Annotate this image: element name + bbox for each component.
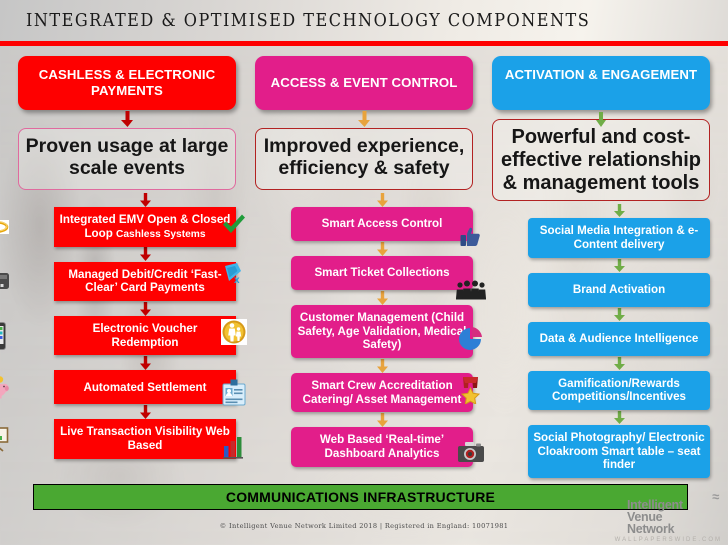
company-logo: ≈ Intelligent Venue Network <box>627 500 723 536</box>
column-subtitle-cashless: Proven usage at large scale events <box>18 128 236 190</box>
item-box[interactable]: Automated Settlement <box>54 370 236 404</box>
connector-arrow <box>255 241 473 256</box>
item-row[interactable]: Gamification/Rewards Competitions/Incent… <box>492 371 710 410</box>
item-row[interactable]: Electronic Voucher Redemption <box>18 316 236 355</box>
connector-arrow <box>492 410 710 425</box>
item-row[interactable]: Customer Management (Child Safety, Age V… <box>255 305 473 358</box>
connector-arrow <box>255 358 473 373</box>
card-reader-icon <box>0 266 12 296</box>
item-box[interactable]: Live Transaction Visibility Web Based <box>54 419 236 458</box>
item-row[interactable]: Integrated EMV Open & Closed Loop Cashle… <box>18 207 236 247</box>
item-row[interactable]: Web Based ‘Real-time’ Dashboard Analytic… <box>255 427 473 466</box>
green-check-icon <box>219 209 249 239</box>
connector-arrow <box>492 307 710 322</box>
page-title: INTEGRATED & OPTIMISED TECHNOLOGY COMPON… <box>26 11 590 31</box>
presentation-chart-icon <box>0 424 12 454</box>
people-group-icon <box>456 275 486 305</box>
connector-arrow <box>18 301 236 316</box>
connector-arrow <box>18 247 236 262</box>
item-box[interactable]: Electronic Voucher Redemption <box>54 316 236 355</box>
item-box[interactable]: Smart Crew Accreditation Catering/ Asset… <box>291 373 473 412</box>
item-row[interactable]: Smart Access Control <box>255 207 473 241</box>
connector-arrow <box>255 412 473 427</box>
slide-canvas: INTEGRATED & OPTIMISED TECHNOLOGY COMPON… <box>0 0 728 545</box>
item-box[interactable]: Web Based ‘Real-time’ Dashboard Analytic… <box>291 427 473 466</box>
connector-arrow <box>18 192 236 207</box>
copyright-notice: © Intelligent Venue Network Limited 2018… <box>0 522 728 530</box>
image-watermark: WALLPAPERSWIDE.COM <box>615 537 722 543</box>
connector-arrow <box>492 356 710 371</box>
logo-line-3: Network <box>627 524 723 536</box>
connector-arrow <box>18 355 236 370</box>
family-safety-icon <box>219 317 249 347</box>
column-subtitle-activation: Powerful and cost-effective relationship… <box>492 119 710 201</box>
gold-ring-icon <box>0 212 12 242</box>
item-row[interactable]: Brand Activation <box>492 273 710 307</box>
item-box[interactable]: Data & Audience Intelligence <box>528 322 710 356</box>
item-row[interactable]: Smart Crew Accreditation Catering/ Asset… <box>255 373 473 412</box>
item-box[interactable]: Smart Ticket Collections <box>291 256 473 290</box>
item-row[interactable]: x Smart Ticket Collections <box>255 256 473 290</box>
item-row[interactable]: Social Media Integration & e-Content del… <box>492 218 710 257</box>
column-access: ACCESS & EVENT CONTROL Improved experien… <box>255 56 473 467</box>
piggy-bank-icon <box>0 372 12 402</box>
item-box[interactable]: Smart Access Control <box>291 207 473 241</box>
id-badge-icon <box>219 378 249 408</box>
item-box[interactable]: Social Photography/ Electronic Cloakroom… <box>528 425 710 478</box>
connector-arrow <box>492 258 710 273</box>
column-activation: ACTIVATION & ENGAGEMENT Powerful and cos… <box>492 56 710 478</box>
connector-arrow <box>18 404 236 419</box>
connector-arrow <box>492 203 710 218</box>
arrow-down-access <box>255 110 473 128</box>
items-cashless: Integrated EMV Open & Closed Loop Cashle… <box>18 192 236 459</box>
connector-arrow <box>255 290 473 305</box>
item-box[interactable]: Brand Activation <box>528 273 710 307</box>
item-row[interactable]: Automated Settlement <box>18 370 236 404</box>
column-caption-cashless[interactable]: CASHLESS & ELECTRONIC PAYMENTS <box>18 56 236 110</box>
item-row[interactable]: Social Photography/ Electronic Cloakroom… <box>492 425 710 478</box>
column-caption-activation[interactable]: ACTIVATION & ENGAGEMENT <box>492 56 710 110</box>
column-cashless: CASHLESS & ELECTRONIC PAYMENTS Proven us… <box>18 56 236 459</box>
item-row[interactable]: Data & Audience Intelligence <box>492 322 710 356</box>
item-box[interactable]: Managed Debit/Credit ‘Fast-Clear’ Card P… <box>54 262 236 301</box>
thumbs-up-icon <box>456 223 486 253</box>
arrow-down-cashless <box>18 110 236 128</box>
item-label-small: Cashless Systems <box>116 229 205 240</box>
pie-chart-icon <box>456 324 486 354</box>
item-row[interactable]: Managed Debit/Credit ‘Fast-Clear’ Card P… <box>18 262 236 301</box>
ticket-icon: x <box>219 258 249 288</box>
smartphone-icon <box>0 321 12 351</box>
item-row[interactable]: Live Transaction Visibility Web Based <box>18 419 236 458</box>
award-medal-icon <box>456 375 486 405</box>
items-activation: Social Media Integration & e-Content del… <box>492 203 710 478</box>
svg-text:x: x <box>234 275 240 285</box>
items-access: Smart Access Control x Smart Ticket Coll… <box>255 192 473 467</box>
item-box[interactable]: Customer Management (Child Safety, Age V… <box>291 305 473 358</box>
communications-infrastructure-bar[interactable]: COMMUNICATIONS INFRASTRUCTURE <box>33 484 688 510</box>
item-box[interactable]: Integrated EMV Open & Closed Loop Cashle… <box>54 207 236 247</box>
bar-chart-icon <box>219 432 249 462</box>
column-subtitle-access: Improved experience, efficiency & safety <box>255 128 473 190</box>
header-divider <box>0 41 728 46</box>
swoosh-icon: ≈ <box>712 491 719 503</box>
header-bar: INTEGRATED & OPTIMISED TECHNOLOGY COMPON… <box>0 0 728 46</box>
camera-icon <box>456 437 486 467</box>
connector-arrow <box>255 192 473 207</box>
item-box[interactable]: Social Media Integration & e-Content del… <box>528 218 710 257</box>
column-caption-access[interactable]: ACCESS & EVENT CONTROL <box>255 56 473 110</box>
item-box[interactable]: Gamification/Rewards Competitions/Incent… <box>528 371 710 410</box>
